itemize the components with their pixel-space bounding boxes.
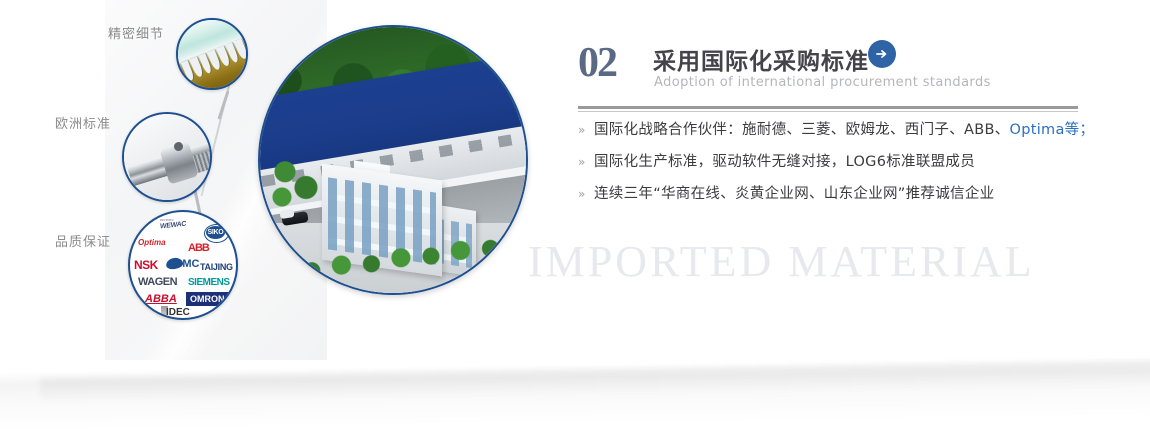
bullet-text-1-highlight: Optima等； <box>1010 122 1095 138</box>
chevron-right-icon: » <box>578 120 594 140</box>
list-item: » 国际化战略合作伙伴：施耐德、三菱、欧姆龙、西门子、ABB、Optima等； <box>578 120 1088 140</box>
brand-logo-siemens: SIEMENS <box>188 277 230 288</box>
brand-logo-omron: OMRON <box>186 292 229 306</box>
brand-logo-wagen: WAGEN <box>138 276 177 288</box>
showcase-label-european-standard: 欧洲标准 <box>55 113 111 132</box>
brand-logo-smc: SMC <box>175 258 199 270</box>
section-title-cn: 采用国际化采购标准 <box>653 42 869 76</box>
header-divider <box>578 106 1078 112</box>
factory-building-circle <box>258 25 528 295</box>
chevron-right-icon: » <box>578 184 594 204</box>
list-item: » 连续三年“华商在线、炎黄企业网、山东企业网”推荐诚信企业 <box>578 184 1088 204</box>
precision-detail-circle <box>176 18 248 90</box>
section-number-value: 02 <box>578 40 616 86</box>
section-title-en: Adoption of international procurement st… <box>654 75 991 90</box>
section-number: 02 <box>578 42 616 84</box>
bullet-text-2: 国际化生产标准，驱动软件无缝对接，LOG6标准联盟成员 <box>594 152 975 172</box>
brand-logo-optima: Optima <box>138 238 166 247</box>
brand-logo-wewac: WEWAC <box>160 221 187 231</box>
bullet-text-1-main: 国际化战略合作伙伴：施耐德、三菱、欧姆龙、西门子、ABB、 <box>594 122 1010 138</box>
chevron-right-icon: » <box>578 152 594 172</box>
section-header: 02 采用国际化采购标准 Adoption of international p… <box>578 20 1098 90</box>
feature-bullet-list: » 国际化战略合作伙伴：施耐德、三菱、欧姆龙、西门子、ABB、Optima等； … <box>578 120 1088 216</box>
brand-logo-taijing: TAIJING <box>200 262 233 272</box>
bullet-text-1: 国际化战略合作伙伴：施耐德、三菱、欧姆龙、西门子、ABB、Optima等； <box>594 120 1094 140</box>
brand-logo-idec: IDEC <box>166 307 190 318</box>
showcase-label-quality: 品质保证 <box>55 231 111 250</box>
list-item: » 国际化生产标准，驱动软件无缝对接，LOG6标准联盟成员 <box>578 152 1088 172</box>
watermark-text: IMPORTED MATERIAL <box>528 236 1035 287</box>
section-content: 02 采用国际化采购标准 Adoption of international p… <box>578 20 1098 90</box>
brand-logo-abba: ABBA <box>145 293 177 305</box>
brand-logo-nsk: NSK <box>134 258 158 272</box>
european-standard-circle <box>122 112 212 202</box>
factory-side-trees <box>270 155 330 211</box>
arrow-right-circle-icon[interactable] <box>868 40 896 68</box>
showcase-label-precision: 精密细节 <box>108 23 164 42</box>
bullet-text-3: 连续三年“华商在线、炎黄企业网、山东企业网”推荐诚信企业 <box>594 184 994 204</box>
brand-logo-abb: ABB <box>188 242 209 254</box>
section-stage: 精密细节 欧洲标准 品质保证 wewac WEWAC SIKO Optima A… <box>0 0 1150 430</box>
bottom-curve-shadow <box>0 357 1150 430</box>
brand-logo-siko: SIKO <box>206 226 225 239</box>
quality-brands-circle: wewac WEWAC SIKO Optima ABB NSK SMC TAIJ… <box>128 210 238 320</box>
